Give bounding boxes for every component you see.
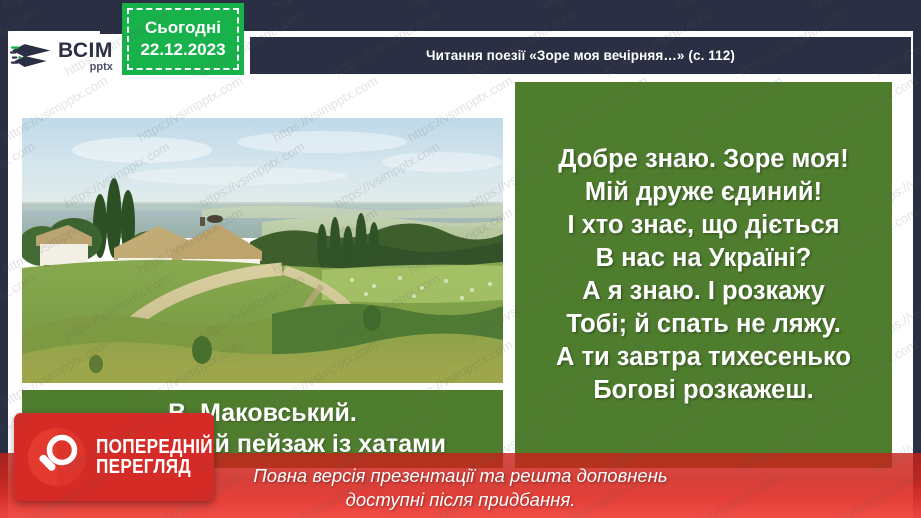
- watermark-text: https://vsimpptx.com: [810, 0, 920, 13]
- poem-line: І хто знає, що діється: [567, 209, 839, 242]
- watermark-text: https://vsimpptx.com: [405, 0, 515, 13]
- watermark-text: https://vsimpptx.com: [0, 0, 110, 13]
- poem-line: Богові розкажеш.: [593, 374, 813, 407]
- poem-line: А я знаю. І розкажу: [582, 275, 825, 308]
- date-badge: Сьогодні 22.12.2023: [122, 3, 244, 75]
- magnifier-icon: [26, 426, 88, 488]
- purchase-banner-line-1: Повна версія презентації та решта доповн…: [253, 464, 667, 487]
- poem-line: А ти завтра тихесенько: [556, 341, 851, 374]
- preview-badge: ПОПЕРЕДНІЙ ПЕРЕГЛЯД: [14, 413, 214, 501]
- brand-name: ВСІМ: [58, 40, 113, 61]
- watermark-text: https://vsimpptx.com: [270, 0, 380, 13]
- poem-line: Добре знаю. Зоре моя!: [558, 143, 848, 176]
- preview-badge-words: ПОПЕРЕДНІЙ ПЕРЕГЛЯД: [96, 437, 232, 478]
- poem-panel: Добре знаю. Зоре моя! Мій друже єдиний! …: [515, 82, 892, 468]
- poem-line: Тобі; й спать не ляжу.: [566, 308, 841, 341]
- slide-root: ВСІМ pptx Сьогодні 22.12.2023 Читання по…: [0, 0, 921, 518]
- watermark-text: https://vsimpptx.com: [675, 0, 785, 13]
- poem-line: В нас на Україні?: [596, 242, 812, 275]
- watermark-text: https://vsimpptx.com: [540, 0, 650, 13]
- header-title-bar: Читання поезії «Зоре моя вечірняя…» (с. …: [250, 37, 911, 74]
- graduation-cap-icon: [10, 38, 54, 74]
- preview-badge-line-1: ПОПЕРЕДНІЙ: [96, 437, 213, 457]
- brand-suffix: pptx: [58, 62, 113, 73]
- date-badge-label: Сьогодні: [145, 19, 221, 38]
- artwork-frame: [22, 118, 503, 383]
- brand-logo: ВСІМ pptx: [10, 33, 130, 79]
- date-badge-value: 22.12.2023: [140, 41, 225, 60]
- landscape-painting: [22, 118, 503, 383]
- preview-badge-line-2: ПЕРЕГЛЯД: [96, 457, 213, 477]
- purchase-banner-line-2: доступні після придбання.: [346, 488, 576, 511]
- poem-line: Мій друже єдиний!: [585, 176, 822, 209]
- brand-wordmark: ВСІМ pptx: [58, 40, 113, 73]
- page-title: Читання поезії «Зоре моя вечірняя…» (с. …: [426, 48, 735, 63]
